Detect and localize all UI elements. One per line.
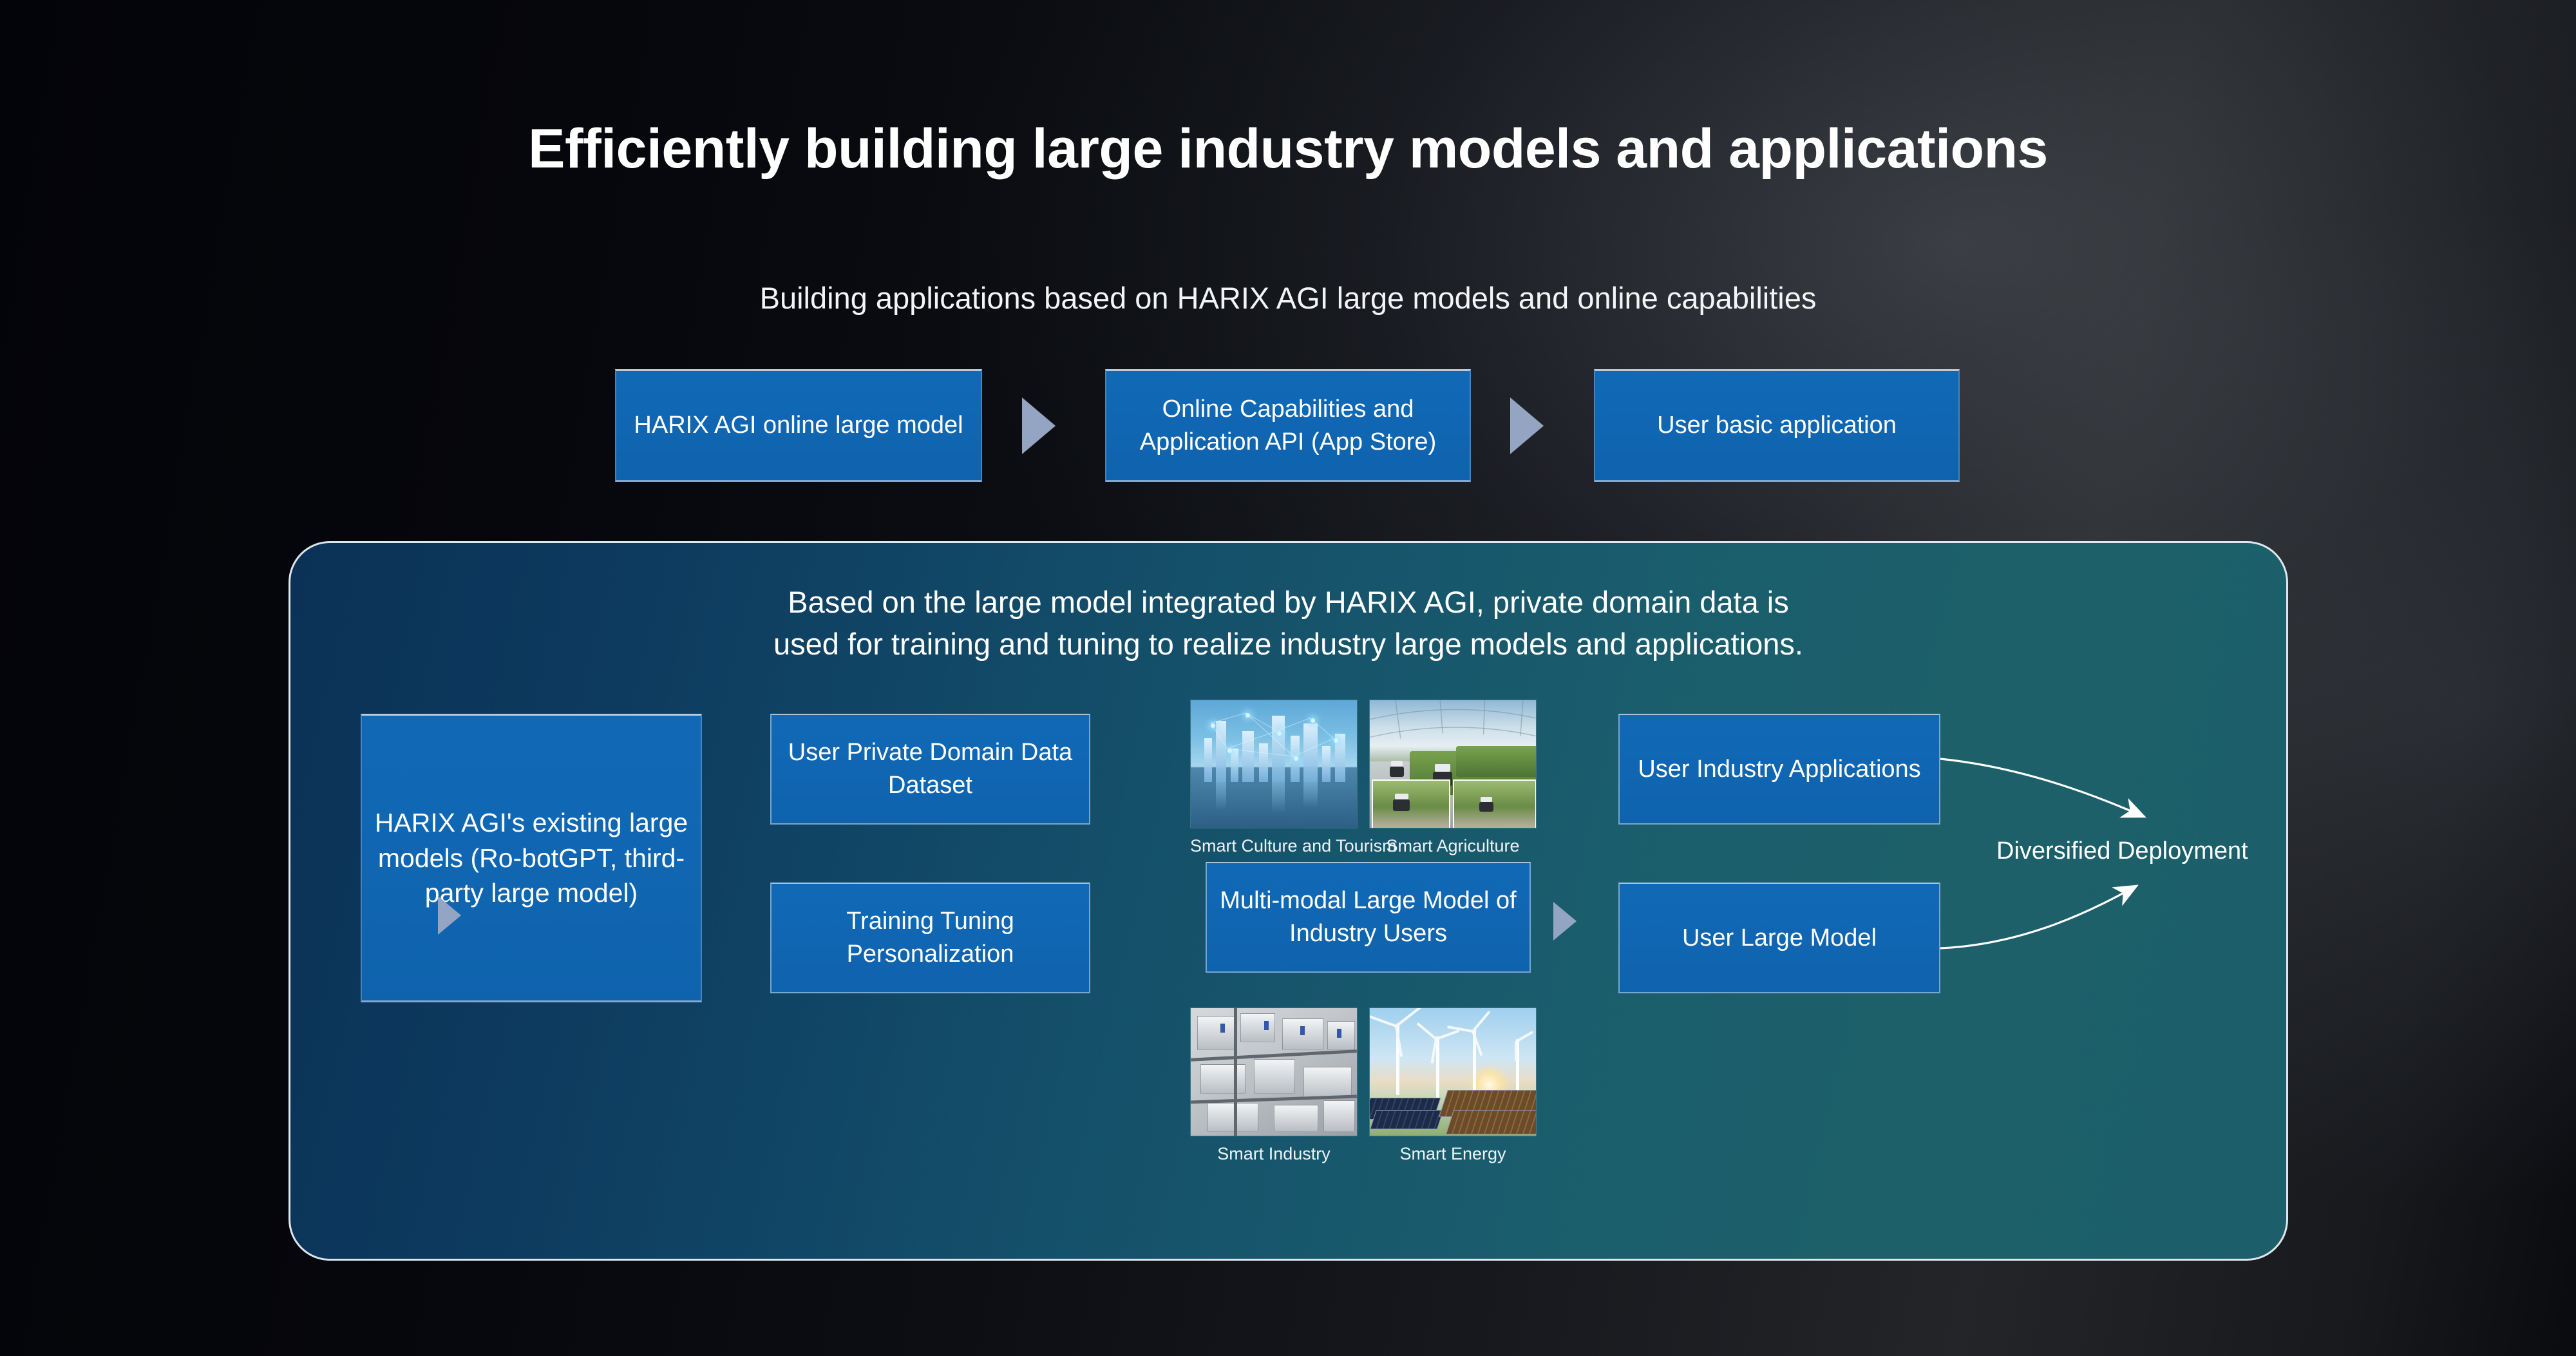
thumbnail-caption: Smart Culture and Tourism bbox=[1190, 836, 1397, 856]
thumbnail-image-smart-city-network bbox=[1190, 700, 1358, 828]
factory-floor-art bbox=[1191, 1008, 1357, 1136]
slide-canvas: Efficiently building large industry mode… bbox=[0, 0, 2576, 1356]
box-user-industry-applications[interactable]: User Industry Applications bbox=[1618, 714, 1940, 825]
thumbnail-caption: Smart Agriculture bbox=[1369, 836, 1537, 856]
pipeline-step-harix-online-model[interactable]: HARIX AGI online large model bbox=[615, 369, 982, 482]
greenhouse-frame-icon bbox=[1370, 700, 1536, 828]
box-multimodal-large-model-industry-users[interactable]: Multi-modal Large Model of Industry User… bbox=[1206, 862, 1531, 973]
triangle-right-icon bbox=[1022, 397, 1056, 454]
triangle-right-icon bbox=[1553, 902, 1577, 941]
greenhouse-robots-art bbox=[1370, 700, 1536, 828]
thumbnail-smart-energy[interactable]: Smart Energy bbox=[1369, 1007, 1537, 1164]
panel-heading-line2: used for training and tuning to realize … bbox=[290, 624, 2286, 665]
box-user-large-model[interactable]: User Large Model bbox=[1618, 883, 1940, 993]
thumbnail-smart-industry[interactable]: Smart Industry bbox=[1190, 1007, 1358, 1164]
thumbnail-caption: Smart Industry bbox=[1190, 1144, 1358, 1164]
network-lines-icon bbox=[1191, 700, 1357, 828]
triangle-right-icon bbox=[438, 896, 461, 935]
panel-heading: Based on the large model integrated by H… bbox=[290, 582, 2286, 665]
thumbnail-image-greenhouse-robots bbox=[1369, 700, 1537, 828]
triangle-right-icon bbox=[1510, 397, 1544, 454]
thumbnail-caption: Smart Energy bbox=[1369, 1144, 1537, 1164]
wind-solar-art bbox=[1370, 1008, 1536, 1136]
thumbnail-smart-agriculture[interactable]: Smart Agriculture bbox=[1369, 700, 1537, 856]
diversified-deployment-label: Diversified Deployment bbox=[1996, 837, 2248, 865]
thumbnail-smart-culture-and-tourism[interactable]: Smart Culture and Tourism bbox=[1190, 700, 1397, 856]
thumbnail-image-wind-solar bbox=[1369, 1007, 1537, 1136]
box-training-tuning-personalization[interactable]: Training Tuning Personalization bbox=[770, 883, 1090, 993]
page-title: Efficiently building large industry mode… bbox=[0, 117, 2576, 181]
box-user-private-domain-data-dataset[interactable]: User Private Domain Data Dataset bbox=[770, 714, 1090, 825]
panel-heading-line1: Based on the large model integrated by H… bbox=[290, 582, 2286, 624]
page-subtitle: Building applications based on HARIX AGI… bbox=[0, 280, 2576, 316]
pipeline-step-user-basic-application[interactable]: User basic application bbox=[1594, 369, 1960, 482]
pipeline-step-online-capabilities-api[interactable]: Online Capabilities and Application API … bbox=[1105, 369, 1471, 482]
box-harix-existing-large-models[interactable]: HARIX AGI's existing large models (Ro-bo… bbox=[361, 714, 702, 1002]
smart-city-network-art bbox=[1191, 700, 1357, 828]
thumbnail-image-factory-floor bbox=[1190, 1007, 1358, 1136]
